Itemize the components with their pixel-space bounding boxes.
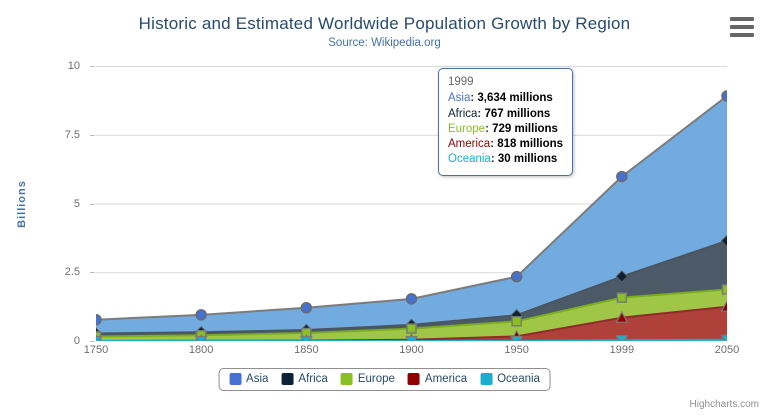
x-axis-label: 2050 <box>715 344 739 356</box>
data-point-europe[interactable] <box>723 285 728 294</box>
data-point-oceania[interactable] <box>406 337 417 342</box>
data-point-asia[interactable] <box>301 303 311 313</box>
tooltip-row: Europe: 729 millions <box>448 122 563 137</box>
x-axis-label: 1999 <box>610 344 634 356</box>
data-point-europe[interactable] <box>512 317 521 326</box>
data-point-asia[interactable] <box>617 172 627 182</box>
data-point-europe[interactable] <box>407 324 416 333</box>
legend-swatch-icon <box>341 373 353 385</box>
tooltip-series-value: 767 millions <box>484 108 550 120</box>
tooltip-series-name: Europe <box>448 123 485 135</box>
y-axis-label: 7.5 <box>20 129 80 141</box>
data-point-asia[interactable] <box>722 91 727 101</box>
x-axis-label: 1950 <box>504 344 528 356</box>
y-axis-tick <box>90 204 95 205</box>
data-point-oceania[interactable] <box>511 336 522 341</box>
legend-label: America <box>425 373 467 385</box>
menu-bar-1 <box>730 17 754 21</box>
legend-label: Europe <box>358 373 395 385</box>
legend: AsiaAfricaEuropeAmericaOceania <box>218 368 551 391</box>
tooltip-header: 1999 <box>448 75 563 91</box>
tooltip-series-value: 729 millions <box>492 123 558 135</box>
data-point-oceania[interactable] <box>196 337 207 342</box>
legend-label: Africa <box>298 373 327 385</box>
legend-swatch-icon <box>281 373 293 385</box>
legend-label: Oceania <box>497 373 540 385</box>
series-tooltip: 1999 Asia: 3,634 millionsAfrica: 767 mil… <box>438 68 573 176</box>
legend-label: Asia <box>246 373 268 385</box>
legend-item-africa[interactable]: Africa <box>281 373 327 385</box>
tooltip-row: Africa: 767 millions <box>448 107 563 122</box>
y-axis-tick <box>90 272 95 273</box>
data-point-asia[interactable] <box>407 294 417 304</box>
tooltip-series-value: 3,634 millions <box>477 92 552 104</box>
x-axis-label: 1800 <box>189 344 213 356</box>
legend-swatch-icon <box>408 373 420 385</box>
legend-item-europe[interactable]: Europe <box>341 373 395 385</box>
tooltip-separator: : <box>491 153 498 165</box>
legend-item-asia[interactable]: Asia <box>229 373 268 385</box>
highcharts-container: Historic and Estimated Worldwide Populat… <box>0 0 769 416</box>
menu-bar-2 <box>730 25 754 29</box>
legend-item-oceania[interactable]: Oceania <box>480 373 540 385</box>
x-axis-label: 1850 <box>294 344 318 356</box>
tooltip-series-name: America <box>448 138 490 150</box>
tooltip-series-value: 818 millions <box>497 138 563 150</box>
legend-swatch-icon <box>229 373 241 385</box>
tooltip-series-name: Oceania <box>448 153 491 165</box>
tooltip-row: Asia: 3,634 millions <box>448 91 563 106</box>
y-axis-label: 10 <box>20 60 80 72</box>
legend-swatch-icon <box>480 373 492 385</box>
chart-title: Historic and Estimated Worldwide Populat… <box>0 14 769 34</box>
hamburger-menu-icon[interactable] <box>729 16 755 38</box>
x-axis-label: 1900 <box>399 344 423 356</box>
y-axis-label: 0 <box>20 335 80 347</box>
data-point-asia[interactable] <box>512 272 522 282</box>
tooltip-row: America: 818 millions <box>448 137 563 152</box>
legend-item-america[interactable]: America <box>408 373 467 385</box>
tooltip-rows: Asia: 3,634 millionsAfrica: 767 millions… <box>448 91 563 167</box>
data-point-europe[interactable] <box>617 293 626 302</box>
data-point-asia[interactable] <box>96 315 101 325</box>
area-chart-svg <box>96 66 727 341</box>
tooltip-series-name: Asia <box>448 92 470 104</box>
data-point-asia[interactable] <box>196 310 206 320</box>
y-axis-label: 2.5 <box>20 266 80 278</box>
plot-area <box>96 66 727 341</box>
tooltip-series-value: 30 millions <box>498 153 557 165</box>
tooltip-series-name: Africa <box>448 108 477 120</box>
y-axis-label: 5 <box>20 198 80 210</box>
tooltip-row: Oceania: 30 millions <box>448 152 563 167</box>
y-axis-tick <box>90 66 95 67</box>
data-point-oceania[interactable] <box>301 337 312 342</box>
y-axis-tick <box>90 341 95 342</box>
x-axis-label: 1750 <box>84 344 108 356</box>
menu-bar-3 <box>730 33 754 37</box>
chart-subtitle: Source: Wikipedia.org <box>0 37 769 49</box>
y-axis-tick <box>90 135 95 136</box>
credits-label[interactable]: Highcharts.com <box>690 399 759 410</box>
